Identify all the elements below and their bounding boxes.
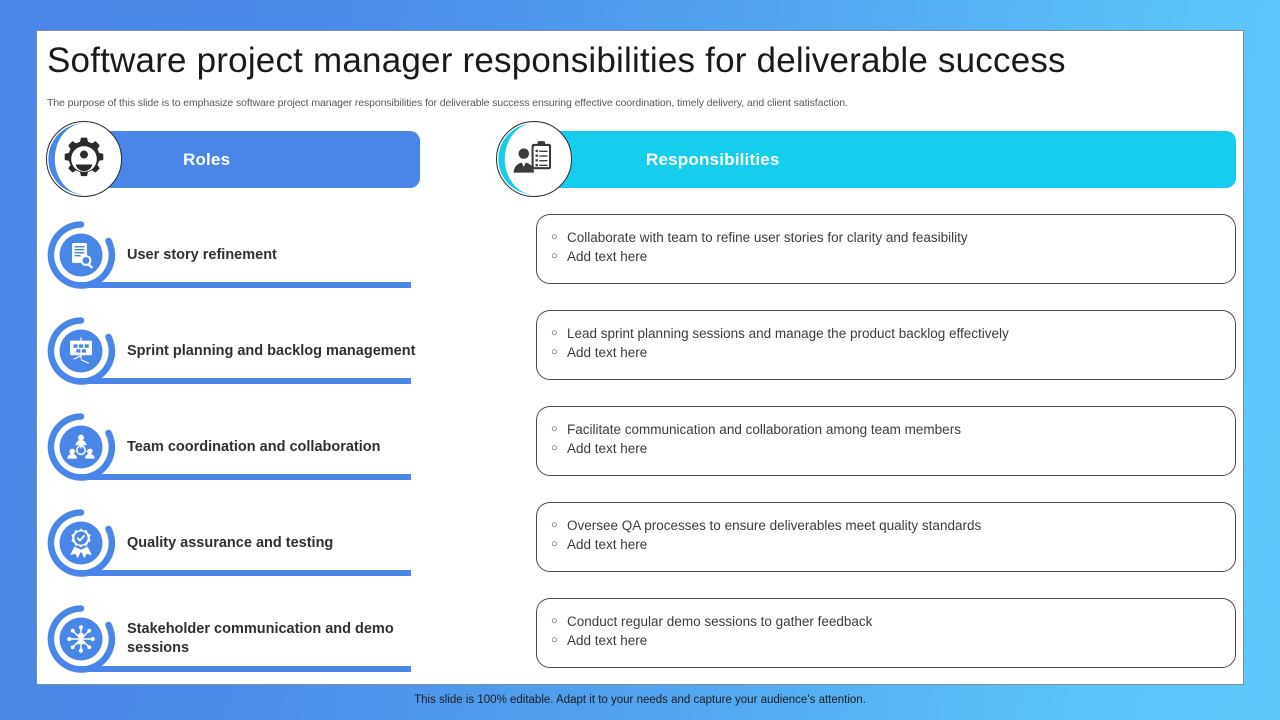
role-underline-bar [76,378,411,384]
role-row[interactable]: Stakeholder communication and demo sessi… [46,596,430,692]
bullet-item: ○ Facilitate communication and collabora… [551,420,1235,439]
roles-header-banner[interactable]: Roles [86,131,420,188]
footer-note: This slide is 100% editable. Adapt it to… [0,694,1280,706]
bullet-marker: ○ [551,420,567,439]
award-ribbon-check-icon [46,508,116,578]
bullet-text: Oversee QA processes to ensure deliverab… [567,516,981,535]
team-network-icon [46,412,116,482]
slide-canvas: Software project manager responsibilitie… [36,30,1244,685]
responsibility-card[interactable]: ○ Oversee QA processes to ensure deliver… [536,502,1236,572]
bullet-text: Add text here [567,343,647,362]
stakeholder-hub-icon [46,604,116,674]
responsibility-card[interactable]: ○ Collaborate with team to refine user s… [536,214,1236,284]
responsibilities-header-banner[interactable]: Responsibilities [536,131,1236,188]
role-underline-bar [76,474,411,480]
bullet-text: Add text here [567,631,647,650]
responsibilities-header-label: Responsibilities [646,150,780,170]
bullet-text: Lead sprint planning sessions and manage… [567,324,1009,343]
bullet-item: ○ Add text here [551,535,1235,554]
document-search-icon [46,220,116,290]
bullet-text: Facilitate communication and collaborati… [567,420,961,439]
bullet-marker: ○ [551,535,567,554]
role-underline-bar [76,282,411,288]
role-underline-bar [76,666,411,672]
responsibilities-column: Responsibilities ○ Collaborate with team… [496,131,1236,668]
bullet-text: Add text here [567,439,647,458]
responsibility-card[interactable]: ○ Conduct regular demo sessions to gathe… [536,598,1236,668]
role-underline-bar [76,570,411,576]
page-title: Software project manager responsibilitie… [47,41,1227,81]
role-row[interactable]: Quality assurance and testing [46,500,430,596]
page-subtitle: The purpose of this slide is to emphasiz… [47,97,1047,109]
bullet-marker: ○ [551,439,567,458]
bullet-marker: ○ [551,324,567,343]
bullet-text: Add text here [567,247,647,266]
bullet-item: ○ Lead sprint planning sessions and mana… [551,324,1235,343]
responsibility-card[interactable]: ○ Lead sprint planning sessions and mana… [536,310,1236,380]
role-row[interactable]: User story refinement [46,212,430,308]
bullet-item: ○ Conduct regular demo sessions to gathe… [551,612,1235,631]
bullet-item: ○ Oversee QA processes to ensure deliver… [551,516,1235,535]
role-row[interactable]: Sprint planning and backlog management [46,308,430,404]
bullet-item: ○ Add text here [551,631,1235,650]
bullet-marker: ○ [551,247,567,266]
bullet-item: ○ Add text here [551,343,1235,362]
bullet-item: ○ Collaborate with team to refine user s… [551,228,1235,247]
gear-person-icon [46,121,122,197]
bullet-marker: ○ [551,631,567,650]
person-clipboard-icon [496,121,572,197]
bullet-marker: ○ [551,516,567,535]
roles-header-label: Roles [183,150,230,170]
bullet-item: ○ Add text here [551,439,1235,458]
bullet-text: Collaborate with team to refine user sto… [567,228,968,247]
bullet-marker: ○ [551,343,567,362]
presentation-board-icon [46,316,116,386]
bullet-item: ○ Add text here [551,247,1235,266]
bullet-marker: ○ [551,228,567,247]
role-row[interactable]: Team coordination and collaboration [46,404,430,500]
bullet-text: Add text here [567,535,647,554]
roles-column: Roles [46,131,430,692]
responsibility-card[interactable]: ○ Facilitate communication and collabora… [536,406,1236,476]
bullet-text: Conduct regular demo sessions to gather … [567,612,872,631]
bullet-marker: ○ [551,612,567,631]
